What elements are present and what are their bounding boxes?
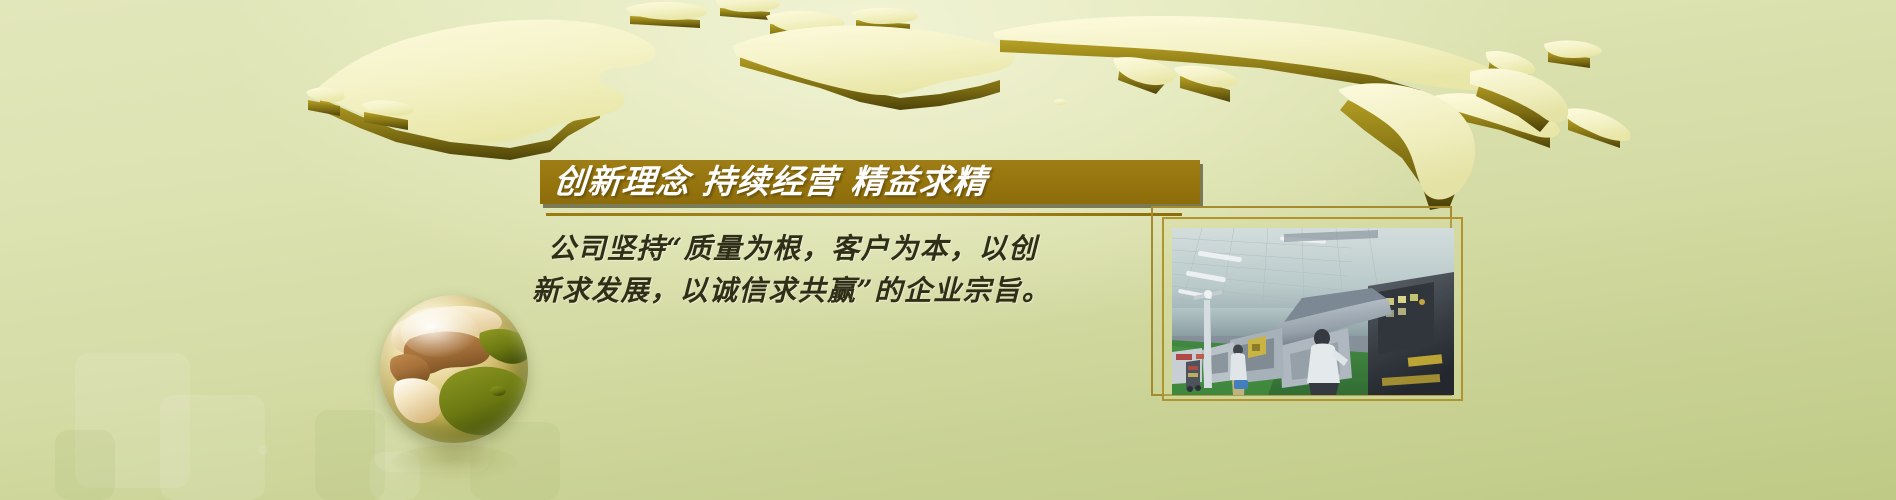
slogan-line-1: 公司坚持“质量为根，客户为本，以创: [548, 228, 1188, 270]
factory-photo: [1172, 228, 1454, 395]
globe-shadow: [392, 445, 518, 479]
headline-underline-rule: [546, 213, 1182, 216]
globe-sphere: [380, 295, 528, 443]
company-culture-banner: 创新理念 持续经营 精益求精 公司坚持“质量为根，客户为本，以创 新求发展，以诚…: [0, 0, 1896, 500]
headline-bar: 创新理念 持续经营 精益求精: [540, 160, 1200, 204]
world-map-south-america-piece: [1330, 60, 1590, 220]
headline-block: 创新理念 持续经营 精益求精: [540, 160, 1200, 216]
slogan-line-2: 新求发展，以诚信求共赢”的企业宗旨。: [532, 270, 1188, 312]
slogan-paragraph: 公司坚持“质量为根，客户为本，以创 新求发展，以诚信求共赢”的企业宗旨。: [548, 228, 1188, 312]
globe-graphic: [380, 295, 540, 495]
headline-text: 创新理念 持续经营 精益求精: [553, 165, 989, 198]
